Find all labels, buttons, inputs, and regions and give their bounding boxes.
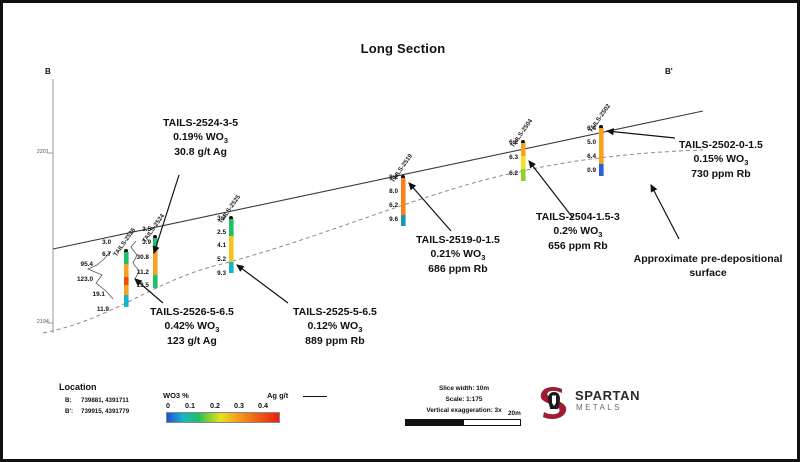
depth-2524-3: 11.2 — [116, 269, 149, 276]
callout-2504-line3: 656 ppm Rb — [536, 240, 620, 254]
depth-2526-2: 95.4 — [61, 261, 93, 268]
callout-tails-2525: TAILS-2525-5-6.5 0.12% WO3 889 ppm Rb — [293, 306, 377, 349]
callout-2524-line3: 30.8 g/t Ag — [163, 146, 238, 160]
callout-2504-line1: TAILS-2504-1.5-3 — [536, 211, 620, 225]
legend-loc-b-value: 739881, 4391711 — [81, 397, 129, 404]
depth-2504-2: 6.2 — [486, 170, 518, 177]
depth-2502-3: 0.9 — [564, 167, 596, 174]
callout-2519-line1: TAILS-2519-0-1.5 — [416, 234, 500, 248]
depth-2519-2: 6.2 — [366, 202, 398, 209]
legend-loc-bp-key: B': — [65, 408, 81, 415]
callout-2524-line1: TAILS-2524-3-5 — [163, 117, 238, 131]
callout-2526-line2: 0.42% WO3 — [150, 320, 234, 335]
callout-2526-line1: TAILS-2526-5-6.5 — [150, 306, 234, 320]
drillhole-tails-2502 — [599, 125, 604, 176]
callout-2502-line3: 730 ppm Rb — [679, 168, 763, 182]
depth-2525-4: 9.3 — [194, 270, 226, 277]
legend-loc-b-key: B: — [65, 397, 81, 404]
callout-2504-line2: 0.2% WO3 — [536, 225, 620, 240]
depth-2519-1: 8.0 — [366, 188, 398, 195]
callout-2525-line3: 889 ppm Rb — [293, 335, 377, 349]
legend-location-b-prime: B':739915, 4391779 — [65, 408, 129, 415]
callout-2502-line2: 0.15% WO3 — [679, 153, 763, 168]
leader-2525 — [237, 265, 288, 303]
brand-sub: METALS — [576, 403, 622, 412]
depth-2525-3: 5.2 — [194, 256, 226, 263]
wo3-color-scale — [166, 412, 280, 423]
scalebar-filled — [405, 419, 463, 426]
callout-tails-2526: TAILS-2526-5-6.5 0.42% WO3 123 g/t Ag — [150, 306, 234, 349]
depth-2525-0: 3.7 — [194, 215, 226, 222]
depth-2526-5: 11.9 — [77, 306, 109, 313]
callout-2519-line3: 686 ppm Rb — [416, 263, 500, 277]
depth-2525-1: 2.5 — [194, 229, 226, 236]
legend-loc-bp-value: 739915, 4391779 — [81, 408, 129, 415]
callout-tails-2519: TAILS-2519-0-1.5 0.21% WO3 686 ppm Rb — [416, 234, 500, 277]
legend-slice-width: Slice width: 10m — [399, 385, 529, 392]
legend-location-title: Location — [59, 382, 97, 392]
legend-ag-title: Ag g/t — [267, 391, 288, 400]
drillhole-tails-2525 — [229, 216, 234, 273]
legend-wo3-title: WO3 % — [163, 391, 189, 400]
depth-2524-0: 3.5 — [119, 226, 151, 233]
leader-2519 — [409, 183, 451, 231]
drillhole-tails-2504 — [521, 140, 526, 181]
legend-wo3-tick-2: 0.2 — [210, 401, 220, 410]
leader-2502 — [607, 131, 675, 138]
callout-2502-line1: TAILS-2502-0-1.5 — [679, 139, 763, 153]
legend-ag-line-swatch — [303, 396, 327, 397]
spartan-logo-icon — [537, 384, 571, 420]
legend-scale: Scale: 1:175 — [399, 396, 529, 403]
pre-depositional-surface-note: Approximate pre-depositional surface — [633, 253, 783, 281]
depth-2502-1: 5.0 — [564, 139, 596, 146]
brand-name: SPARTAN — [575, 388, 640, 403]
long-section-figure: Long Section B B' 2201 2194 — [0, 0, 800, 462]
depth-2504-0: 6.2 — [486, 139, 518, 146]
depth-2526-0: 3.0 — [79, 239, 111, 246]
depth-2504-1: 6.3 — [486, 154, 518, 161]
depth-2524-2: 30.8 — [113, 254, 149, 261]
callout-tails-2502: TAILS-2502-0-1.5 0.15% WO3 730 ppm Rb — [679, 139, 763, 182]
scalebar-label: 20m — [508, 410, 521, 417]
legend-wo3-tick-4: 0.4 — [258, 401, 268, 410]
depth-2519-0: 8.2 — [366, 174, 398, 181]
callout-tails-2504: TAILS-2504-1.5-3 0.2% WO3 656 ppm Rb — [536, 211, 620, 254]
callout-2519-line2: 0.21% WO3 — [416, 248, 500, 263]
drillhole-tails-2519 — [401, 175, 406, 226]
legend-wo3-tick-3: 0.3 — [234, 401, 244, 410]
callout-tails-2524: TAILS-2524-3-5 0.19% WO3 30.8 g/t Ag — [163, 117, 238, 160]
depth-2519-3: 9.6 — [366, 216, 398, 223]
legend-location-b: B:739881, 4391711 — [65, 397, 129, 404]
callout-2526-line3: 123 g/t Ag — [150, 335, 234, 349]
depth-2526-4: 19.1 — [73, 291, 105, 298]
legend-wo3-tick-1: 0.1 — [185, 401, 195, 410]
leader-surface-note — [651, 185, 679, 239]
callout-2525-line2: 0.12% WO3 — [293, 320, 377, 335]
depth-2526-1: 6.7 — [79, 251, 111, 258]
depth-2525-2: 4.1 — [194, 242, 226, 249]
depth-2524-1: 3.9 — [119, 239, 151, 246]
depth-2502-2: 6.4 — [564, 153, 596, 160]
leader-2524 — [154, 175, 179, 253]
callout-2525-line1: TAILS-2525-5-6.5 — [293, 306, 377, 320]
callout-2524-line2: 0.19% WO3 — [163, 131, 238, 146]
depth-2524-4: 13.5 — [116, 282, 149, 289]
legend-wo3-tick-0: 0 — [166, 401, 170, 410]
depth-2502-0: 6.4 — [564, 125, 596, 132]
depth-2526-3: 123.0 — [57, 276, 93, 283]
scalebar-empty — [463, 419, 521, 426]
